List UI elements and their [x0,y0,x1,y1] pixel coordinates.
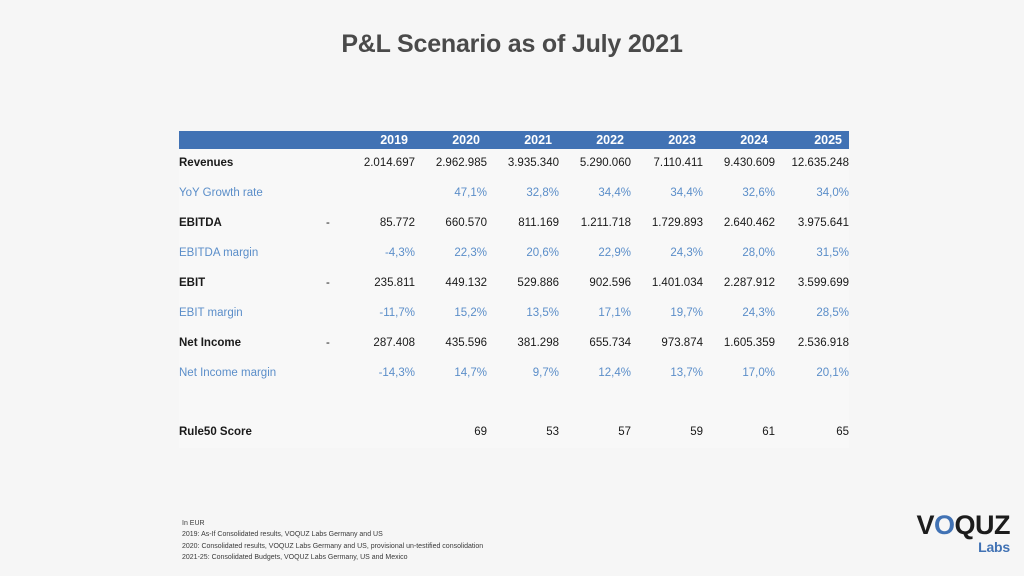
cell-net-income-2023: 973.874 [631,329,703,359]
cell-net-income-margin-2019: -14,3% [343,359,415,389]
cell-net-income-margin-2020: 14,7% [415,359,487,389]
column-header-2022: 2022 [559,131,631,149]
cell-net-income-margin-2021: 9,7% [487,359,559,389]
cell-ebit-margin-2022: 17,1% [559,299,631,329]
cell-ebit-2023: 1.401.034 [631,269,703,299]
footnote-2021-25: 2021-25: Consolidated Budgets, VOQUZ Lab… [182,552,483,563]
logo-wordmark: VOQUZ [916,512,1010,539]
cell-ebitda-2020: 660.570 [415,209,487,239]
cell-yoy-growth-rate-2024: 32,6% [703,179,775,209]
table-row: Net Income - 287.408 435.596 381.298 655… [179,329,849,359]
row-label-net-income: Net Income [179,329,326,359]
row-label-ebit: EBIT [179,269,326,299]
cell-ebit-margin-2021: 13,5% [487,299,559,329]
cell-revenues-2023: 7.110.411 [631,149,703,179]
cell-net-income-2025: 2.536.918 [775,329,849,359]
cell-rule50-score-2021: 53 [487,418,559,448]
table-header-row: 2019 2020 2021 2022 2023 2024 2025 [179,131,849,149]
cell-yoy-growth-rate-2021: 32,8% [487,179,559,209]
cell-ebitda-margin-2023: 24,3% [631,239,703,269]
cell-ebitda-2023: 1.729.893 [631,209,703,239]
cell-net-income-2021: 381.298 [487,329,559,359]
column-header-2021: 2021 [487,131,559,149]
table-row: YoY Growth rate 47,1% 32,8% 34,4% 34,4% … [179,179,849,209]
row-sign-yoy-growth-rate [326,179,343,209]
cell-net-income-2020: 435.596 [415,329,487,359]
cell-ebit-margin-2025: 28,5% [775,299,849,329]
cell-ebitda-2024: 2.640.462 [703,209,775,239]
cell-ebitda-margin-2019: -4,3% [343,239,415,269]
cell-revenues-2025: 12.635.248 [775,149,849,179]
cell-ebit-margin-2024: 24,3% [703,299,775,329]
cell-ebit-2025: 3.599.699 [775,269,849,299]
cell-ebit-2022: 902.596 [559,269,631,299]
row-label-yoy-growth-rate: YoY Growth rate [179,179,326,209]
footnote-2019: 2019: As-If Consolidated results, VOQUZ … [182,529,483,540]
cell-rule50-score-2022: 57 [559,418,631,448]
cell-ebit-margin-2020: 15,2% [415,299,487,329]
cell-rule50-score-2020: 69 [415,418,487,448]
cell-yoy-growth-rate-2023: 34,4% [631,179,703,209]
row-sign-ebit: - [326,269,343,299]
cell-rule50-score-2019 [343,418,415,448]
cell-ebitda-margin-2024: 28,0% [703,239,775,269]
cell-ebitda-2019: 85.772 [343,209,415,239]
cell-ebitda-margin-2025: 31,5% [775,239,849,269]
table-row: EBITDA - 85.772 660.570 811.169 1.211.71… [179,209,849,239]
row-label-ebit-margin: EBIT margin [179,299,326,329]
cell-net-income-2024: 1.605.359 [703,329,775,359]
table-row: Revenues 2.014.697 2.962.985 3.935.340 5… [179,149,849,179]
cell-ebitda-margin-2021: 20,6% [487,239,559,269]
cell-ebit-2019: 235.811 [343,269,415,299]
cell-net-income-margin-2022: 12,4% [559,359,631,389]
table-body: Revenues 2.014.697 2.962.985 3.935.340 5… [179,149,849,448]
table-row: EBIT - 235.811 449.132 529.886 902.596 1… [179,269,849,299]
cell-net-income-2022: 655.734 [559,329,631,359]
cell-ebit-margin-2023: 19,7% [631,299,703,329]
table-row: Rule50 Score 69 53 57 59 61 65 [179,418,849,448]
cell-revenues-2021: 3.935.340 [487,149,559,179]
cell-ebit-2024: 2.287.912 [703,269,775,299]
row-label-ebitda: EBITDA [179,209,326,239]
column-header-2025: 2025 [775,131,849,149]
cell-ebitda-margin-2020: 22,3% [415,239,487,269]
footnote-currency: In EUR [182,518,483,529]
cell-yoy-growth-rate-2020: 47,1% [415,179,487,209]
row-label-rule50-score: Rule50 Score [179,418,326,448]
logo-letter-v: V [916,510,934,540]
logo-subtitle: Labs [916,540,1010,554]
cell-ebitda-margin-2022: 22,9% [559,239,631,269]
cell-net-income-margin-2025: 20,1% [775,359,849,389]
cell-ebit-2020: 449.132 [415,269,487,299]
cell-net-income-2019: 287.408 [343,329,415,359]
cell-rule50-score-2023: 59 [631,418,703,448]
cell-rule50-score-2024: 61 [703,418,775,448]
table-spacer-row [179,389,849,418]
row-sign-net-income-margin [326,359,343,389]
column-header-2024: 2024 [703,131,775,149]
cell-ebit-2021: 529.886 [487,269,559,299]
row-sign-ebitda-margin [326,239,343,269]
row-sign-revenues [326,149,343,179]
cell-ebitda-2022: 1.211.718 [559,209,631,239]
footnote-2020: 2020: Consolidated results, VOQUZ Labs G… [182,541,483,552]
row-sign-rule50-score [326,418,343,448]
cell-ebit-margin-2019: -11,7% [343,299,415,329]
column-header-2019: 2019 [343,131,415,149]
table-spacer-cell [179,389,849,418]
cell-revenues-2019: 2.014.697 [343,149,415,179]
cell-revenues-2022: 5.290.060 [559,149,631,179]
row-sign-ebit-margin [326,299,343,329]
logo-letters-quz: QUZ [955,510,1011,540]
column-header-2023: 2023 [631,131,703,149]
cell-revenues-2020: 2.962.985 [415,149,487,179]
row-sign-net-income: - [326,329,343,359]
cell-revenues-2024: 9.430.609 [703,149,775,179]
cell-yoy-growth-rate-2019 [343,179,415,209]
cell-yoy-growth-rate-2025: 34,0% [775,179,849,209]
column-header-2020: 2020 [415,131,487,149]
logo-letter-o: O [934,510,955,540]
cell-rule50-score-2025: 65 [775,418,849,448]
cell-yoy-growth-rate-2022: 34,4% [559,179,631,209]
cell-net-income-margin-2024: 17,0% [703,359,775,389]
voquz-labs-logo: VOQUZ Labs [916,512,1010,554]
table-row: EBITDA margin -4,3% 22,3% 20,6% 22,9% 24… [179,239,849,269]
row-sign-ebitda: - [326,209,343,239]
table-corner-header [179,131,343,149]
cell-ebitda-2025: 3.975.641 [775,209,849,239]
pl-scenario-table: 2019 2020 2021 2022 2023 2024 2025 Reven… [179,131,849,448]
table-header: 2019 2020 2021 2022 2023 2024 2025 [179,131,849,149]
cell-ebitda-2021: 811.169 [487,209,559,239]
cell-net-income-margin-2023: 13,7% [631,359,703,389]
row-label-ebitda-margin: EBITDA margin [179,239,326,269]
row-label-revenues: Revenues [179,149,326,179]
footnotes: In EUR 2019: As-If Consolidated results,… [182,518,483,563]
table-row: EBIT margin -11,7% 15,2% 13,5% 17,1% 19,… [179,299,849,329]
table-row: Net Income margin -14,3% 14,7% 9,7% 12,4… [179,359,849,389]
row-label-net-income-margin: Net Income margin [179,359,326,389]
page-title: P&L Scenario as of July 2021 [0,30,1024,59]
